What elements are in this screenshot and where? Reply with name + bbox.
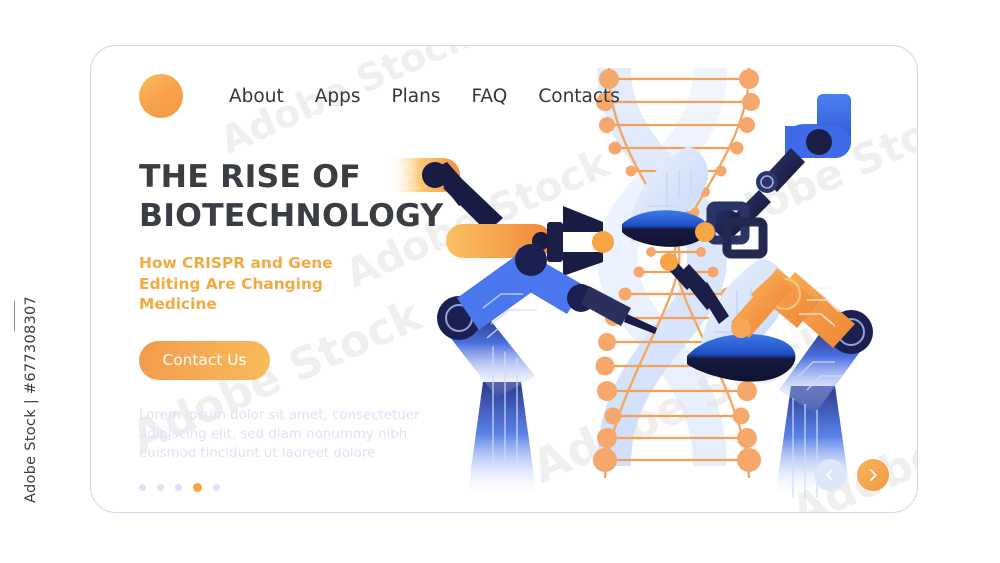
nav-item-faq[interactable]: FAQ [471, 86, 507, 107]
attribution-text: Adobe Stock | #677308307 [23, 273, 39, 503]
headline-line-1: THE RISE OF [139, 158, 469, 197]
carousel-dot-3[interactable] [175, 484, 182, 491]
hero-body-text: Lorem ipsum dolor sit amet, consectetuer… [139, 406, 459, 464]
headline-line-2: BIOTECHNOLOGY [139, 197, 469, 236]
nav-item-plans[interactable]: Plans [391, 86, 440, 107]
chevron-left-icon [824, 469, 836, 481]
navbar: About Apps Plans FAQ Contacts [139, 74, 620, 118]
carousel-dot-5[interactable] [213, 484, 220, 491]
logo-icon[interactable] [139, 74, 183, 118]
nav-item-apps[interactable]: Apps [315, 86, 361, 107]
carousel-arrows [814, 459, 889, 491]
watermark-tile: Adobe Stock [694, 88, 918, 253]
carousel-prev-button[interactable] [814, 459, 846, 491]
carousel-dot-2[interactable] [157, 484, 164, 491]
hero-subtitle: How CRISPR and Gene Editing Are Changing… [139, 253, 334, 314]
carousel-dot-4[interactable] [193, 483, 202, 492]
hero-copy: THE RISE OF BIOTECHNOLOGY How CRISPR and… [139, 158, 469, 463]
nav-item-about[interactable]: About [229, 86, 284, 107]
screenshot-root: Adobe Stock | #677308307 Adobe Stock Ado… [0, 0, 1000, 563]
hero-card: Adobe Stock Adobe Stock Adobe Stock Adob… [90, 45, 918, 513]
chevron-right-icon [867, 469, 879, 481]
nav-item-contacts[interactable]: Contacts [538, 86, 620, 107]
carousel-dots [139, 483, 231, 492]
carousel-dot-1[interactable] [139, 484, 146, 491]
attribution-divider [14, 301, 15, 331]
contact-us-button[interactable]: Contact Us [139, 341, 270, 380]
watermark-tile: Adobe Stock [524, 312, 843, 493]
page-title: THE RISE OF BIOTECHNOLOGY [139, 158, 469, 236]
stock-attribution-bar: Adobe Stock | #677308307 [0, 0, 30, 563]
carousel-next-button[interactable] [857, 459, 889, 491]
nav-links: About Apps Plans FAQ Contacts [229, 86, 620, 107]
